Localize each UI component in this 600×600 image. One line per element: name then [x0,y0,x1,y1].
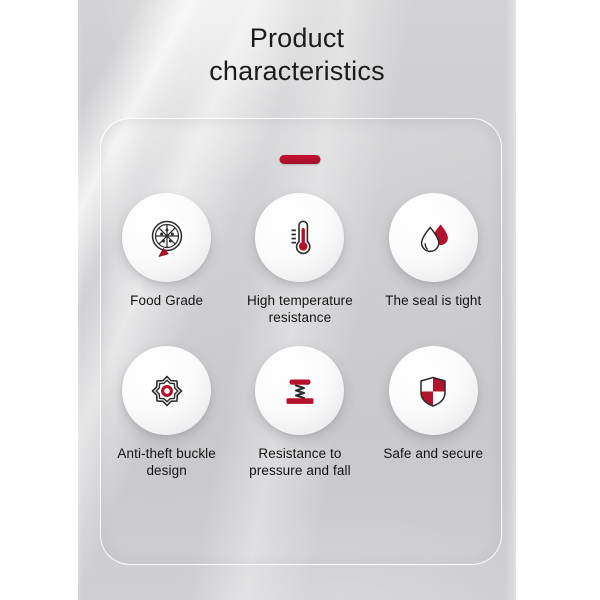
left-edge-highlight [66,0,82,600]
feature-label-line-1: Anti-theft buckle [102,445,232,462]
feature-label-line-2: design [102,462,232,479]
feature-label: Resistance to pressure and fall [235,445,365,479]
feature-item-high-temperature[interactable]: High temperature resistance [233,193,366,326]
feature-icon-badge [122,346,211,435]
feature-item-food-grade[interactable]: Food Grade [100,193,233,326]
title-divider-bar [280,155,321,164]
spring-compression-icon [277,368,323,414]
feature-item-seal-tight[interactable]: The seal is tight [367,193,500,326]
feature-label: Anti-theft buckle design [102,445,232,479]
feature-item-pressure-resistance[interactable]: Resistance to pressure and fall [233,346,366,479]
feature-icon-badge [122,193,211,282]
page-title-line-1: Product [78,22,516,55]
feature-icon-badge [255,346,344,435]
feature-label: High temperature resistance [235,292,365,326]
feature-label-line-2: pressure and fall [235,462,365,479]
feature-icon-badge [255,193,344,282]
feature-label: Safe and secure [368,445,498,462]
feature-label-line-1: Resistance to [235,445,365,462]
feature-grid: Food Grade [100,193,500,479]
feature-label-line-2: resistance [235,309,365,326]
feature-label-line-1: High temperature [235,292,365,309]
water-droplets-icon [410,215,456,261]
feature-item-safe-secure[interactable]: Safe and secure [367,346,500,479]
shield-icon [410,368,456,414]
feature-item-anti-theft-buckle[interactable]: Anti-theft buckle design [100,346,233,479]
feature-label: Food Grade [102,292,232,309]
feature-label: The seal is tight [368,292,498,309]
page-title-line-2: characteristics [78,55,516,88]
feature-row-1: Food Grade [100,193,500,326]
right-edge-highlight [505,0,525,600]
poster-stage: Product characteristics [0,0,600,600]
feature-icon-badge [389,193,478,282]
page-title: Product characteristics [78,22,516,88]
feature-row-2: Anti-theft buckle design Resistance [100,346,500,479]
star-buckle-icon [144,368,190,414]
pizza-food-grade-icon [144,215,190,261]
feature-icon-badge [389,346,478,435]
thermometer-icon [277,215,323,261]
